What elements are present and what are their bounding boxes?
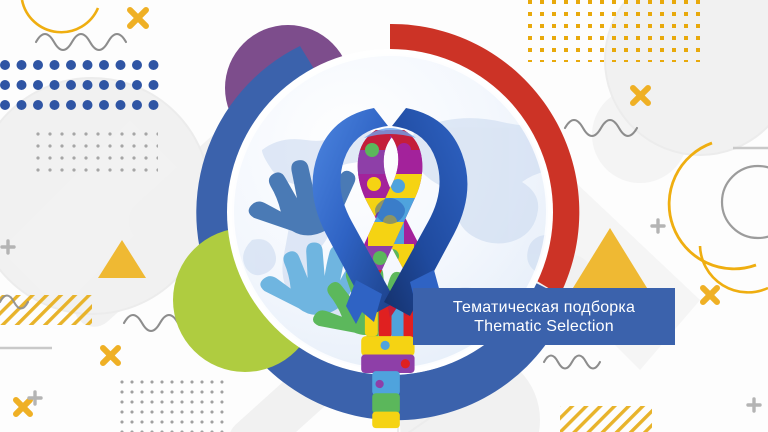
main-composition: [0, 0, 768, 432]
poster-canvas: Тематическая подборка Thematic Selection: [0, 0, 768, 432]
banner-title-ru: Тематическая подборка: [453, 298, 635, 317]
banner-title-en: Thematic Selection: [474, 317, 614, 336]
thematic-selection-banner[interactable]: Тематическая подборка Thematic Selection: [413, 288, 675, 345]
